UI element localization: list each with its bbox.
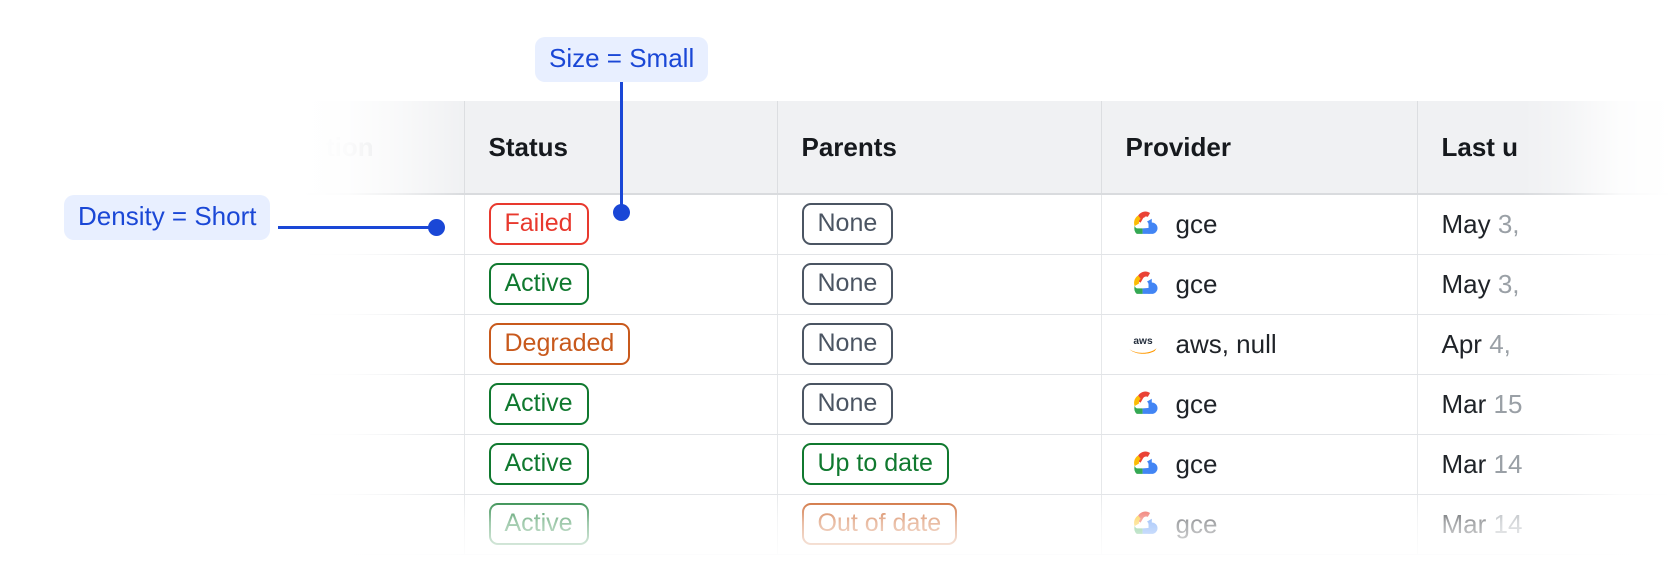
status-badge: Active xyxy=(489,443,589,485)
cell-parents: Out of date xyxy=(777,494,1101,554)
status-badge: Active xyxy=(489,503,589,545)
size-annotation-label: Size = Small xyxy=(535,37,708,82)
status-badge: Degraded xyxy=(489,323,631,365)
cell-last-updated: May 3, xyxy=(1417,194,1672,254)
resources-table: tion Status Parents Provider Last u Fail… xyxy=(302,101,1672,555)
cell-status: Degraded xyxy=(464,314,777,374)
cell-provider: gce xyxy=(1101,434,1417,494)
table-header: tion Status Parents Provider Last u xyxy=(302,101,1672,194)
provider-label: gce xyxy=(1176,389,1218,420)
cell-last-updated: Apr 4, xyxy=(1417,314,1672,374)
cell-provider: gce xyxy=(1101,254,1417,314)
cell-parents: None xyxy=(777,194,1101,254)
last-updated-dim: 3, xyxy=(1498,269,1520,299)
density-callout-dot xyxy=(428,219,445,236)
size-callout-dot xyxy=(613,204,630,221)
column-header-parents[interactable]: Parents xyxy=(777,101,1101,194)
cell-status: Active xyxy=(464,434,777,494)
cell-status: Active xyxy=(464,254,777,314)
cell-last-updated: Mar 15 xyxy=(1417,374,1672,434)
status-badge: Failed xyxy=(489,203,589,245)
cell-description xyxy=(302,494,464,554)
provider-label: gce xyxy=(1176,509,1218,540)
screenshot-root: tion Status Parents Provider Last u Fail… xyxy=(0,0,1672,564)
last-updated-dim: 15 xyxy=(1494,389,1523,419)
gcp-cloud-icon xyxy=(1126,207,1160,241)
cell-description xyxy=(302,374,464,434)
last-updated-dim: 4, xyxy=(1489,329,1511,359)
status-badge: Active xyxy=(489,383,589,425)
provider-label: aws, null xyxy=(1176,329,1277,360)
table-body: Failed None gce xyxy=(302,194,1672,554)
last-updated-dim: 3, xyxy=(1498,209,1520,239)
cell-status: Active xyxy=(464,374,777,434)
column-header-provider[interactable]: Provider xyxy=(1101,101,1417,194)
last-updated-dim: 14 xyxy=(1494,449,1523,479)
parents-badge: Out of date xyxy=(802,503,958,545)
parents-badge: None xyxy=(802,203,894,245)
column-header-description[interactable]: tion xyxy=(302,101,464,194)
table-row[interactable]: Active Up to date gce xyxy=(302,434,1672,494)
table-row[interactable]: Active Out of date gce xyxy=(302,494,1672,554)
provider-label: gce xyxy=(1176,449,1218,480)
table-row[interactable]: Degraded None aws aws, null Apr 4, xyxy=(302,314,1672,374)
gcp-cloud-icon xyxy=(1126,267,1160,301)
size-callout-line xyxy=(620,74,623,213)
aws-icon: aws xyxy=(1126,327,1160,361)
data-table-scroll-region[interactable]: tion Status Parents Provider Last u Fail… xyxy=(302,101,1672,564)
cell-description xyxy=(302,314,464,374)
provider-label: gce xyxy=(1176,269,1218,300)
gcp-cloud-icon xyxy=(1126,507,1160,541)
cell-description xyxy=(302,254,464,314)
cell-last-updated: Mar 14 xyxy=(1417,434,1672,494)
svg-text:aws: aws xyxy=(1133,336,1153,347)
cell-provider: gce xyxy=(1101,494,1417,554)
gcp-cloud-icon xyxy=(1126,387,1160,421)
cell-last-updated: Mar 14 xyxy=(1417,494,1672,554)
cell-parents: Up to date xyxy=(777,434,1101,494)
cell-parents: None xyxy=(777,314,1101,374)
table-row[interactable]: Active None gce xyxy=(302,374,1672,434)
cell-provider: gce xyxy=(1101,374,1417,434)
parents-badge: None xyxy=(802,323,894,365)
cell-parents: None xyxy=(777,254,1101,314)
density-annotation-label: Density = Short xyxy=(64,195,270,240)
cell-status: Active xyxy=(464,494,777,554)
status-badge: Active xyxy=(489,263,589,305)
density-callout-line xyxy=(278,226,436,229)
cell-provider: aws aws, null xyxy=(1101,314,1417,374)
cell-last-updated: May 3, xyxy=(1417,254,1672,314)
table-row[interactable]: Failed None gce xyxy=(302,194,1672,254)
table-row[interactable]: Active None gce xyxy=(302,254,1672,314)
cell-parents: None xyxy=(777,374,1101,434)
cell-description xyxy=(302,434,464,494)
parents-badge: None xyxy=(802,383,894,425)
cell-provider: gce xyxy=(1101,194,1417,254)
parents-badge: Up to date xyxy=(802,443,949,485)
parents-badge: None xyxy=(802,263,894,305)
column-header-last-updated[interactable]: Last u xyxy=(1417,101,1672,194)
provider-label: gce xyxy=(1176,209,1218,240)
last-updated-dim: 14 xyxy=(1494,509,1523,539)
gcp-cloud-icon xyxy=(1126,447,1160,481)
table-header-row: tion Status Parents Provider Last u xyxy=(302,101,1672,194)
